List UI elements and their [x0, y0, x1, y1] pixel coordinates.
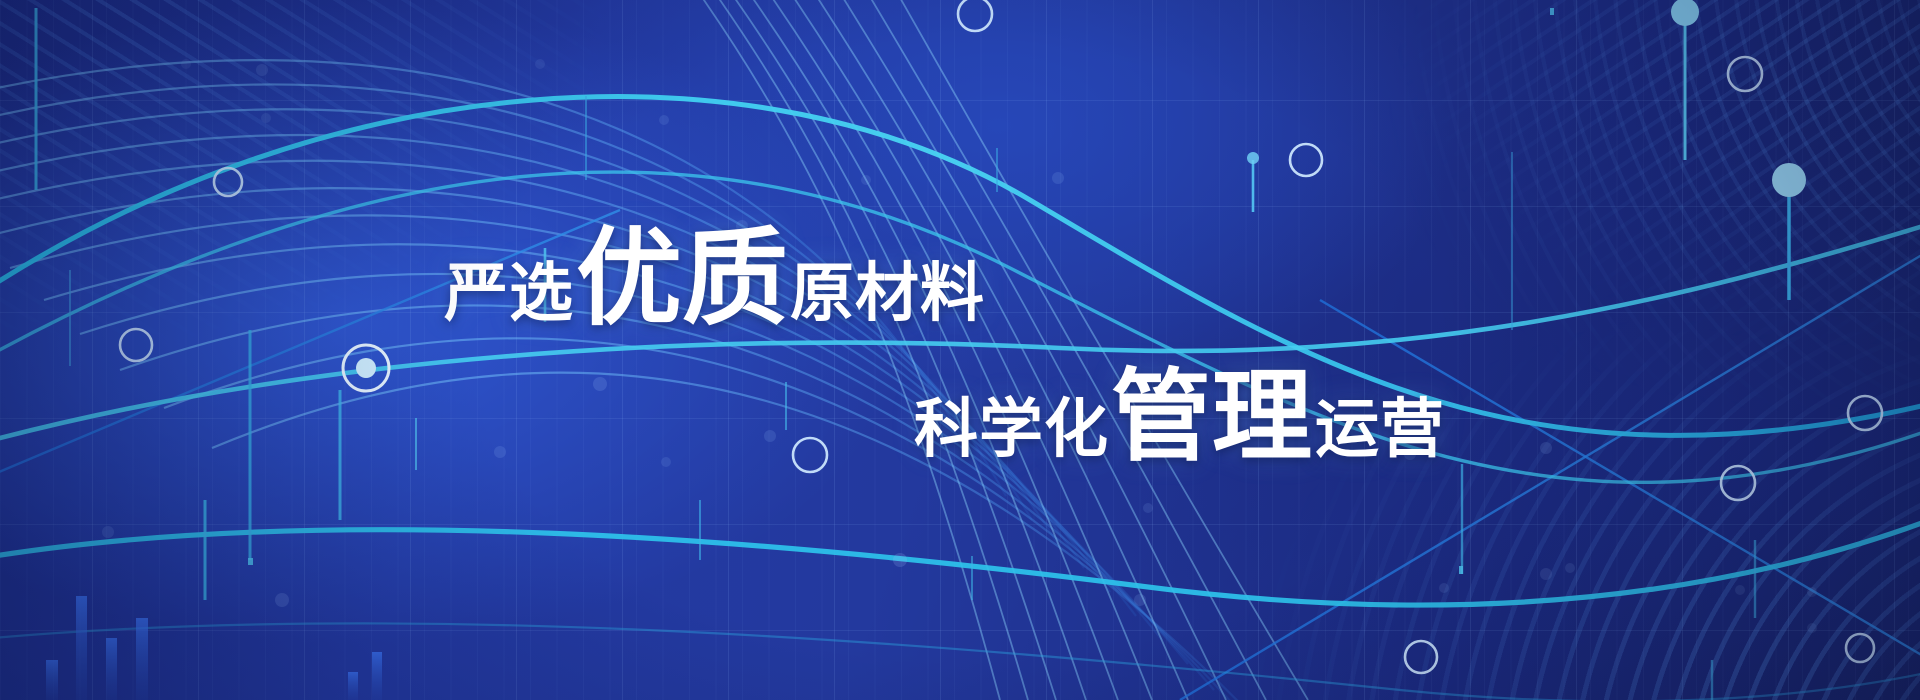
promo-banner: 严选优质原材料 科学化管理运营: [0, 0, 1920, 700]
background-vignette: [0, 0, 1920, 700]
